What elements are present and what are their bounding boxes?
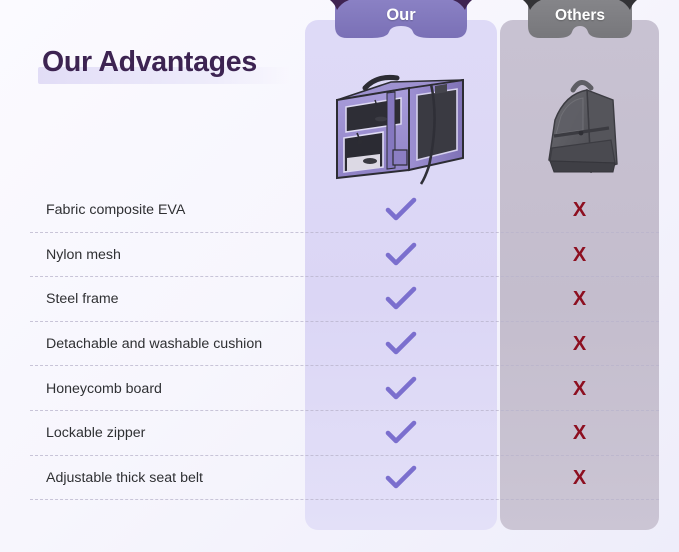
table-row: Honeycomb board X: [0, 366, 679, 411]
feature-label: Detachable and washable cushion: [46, 336, 262, 352]
table-row: Adjustable thick seat belt X: [0, 456, 679, 501]
check-icon: [305, 376, 497, 402]
table-row: Steel frame X: [0, 277, 679, 322]
table-row: Detachable and washable cushion X: [0, 322, 679, 367]
check-icon: [305, 420, 497, 446]
gray-backpack-carrier-icon: [521, 60, 639, 190]
feature-rows: Fabric composite EVA X Nylon mesh X Stee…: [0, 188, 679, 500]
table-row: Fabric composite EVA X: [0, 188, 679, 233]
column-header-our: Our: [335, 0, 467, 44]
comparison-chart: Our Advantages Our: [0, 0, 679, 552]
check-icon: [305, 242, 497, 268]
feature-label: Lockable zipper: [46, 425, 145, 441]
column-header-others: Others: [528, 0, 632, 44]
table-row: Nylon mesh X: [0, 233, 679, 278]
check-icon: [305, 197, 497, 223]
cross-icon: X: [500, 379, 659, 399]
check-icon: [305, 465, 497, 491]
feature-label: Nylon mesh: [46, 247, 121, 263]
feature-label: Adjustable thick seat belt: [46, 470, 203, 486]
ribbon-body-shape: [335, 0, 467, 38]
feature-label: Fabric composite EVA: [46, 202, 185, 218]
title-block: Our Advantages: [42, 48, 257, 77]
ribbon-body-shape: [528, 0, 632, 38]
cross-icon: X: [500, 200, 659, 220]
page-title: Our Advantages: [42, 48, 257, 77]
cross-icon: X: [500, 468, 659, 488]
row-separator: [30, 499, 659, 500]
purple-pet-carrier-bag-icon: [313, 62, 489, 187]
cross-icon: X: [500, 423, 659, 443]
table-row: Lockable zipper X: [0, 411, 679, 456]
check-icon: [305, 286, 497, 312]
feature-label: Honeycomb board: [46, 381, 162, 397]
cross-icon: X: [500, 334, 659, 354]
cross-icon: X: [500, 289, 659, 309]
feature-label: Steel frame: [46, 291, 119, 307]
cross-icon: X: [500, 245, 659, 265]
check-icon: [305, 331, 497, 357]
